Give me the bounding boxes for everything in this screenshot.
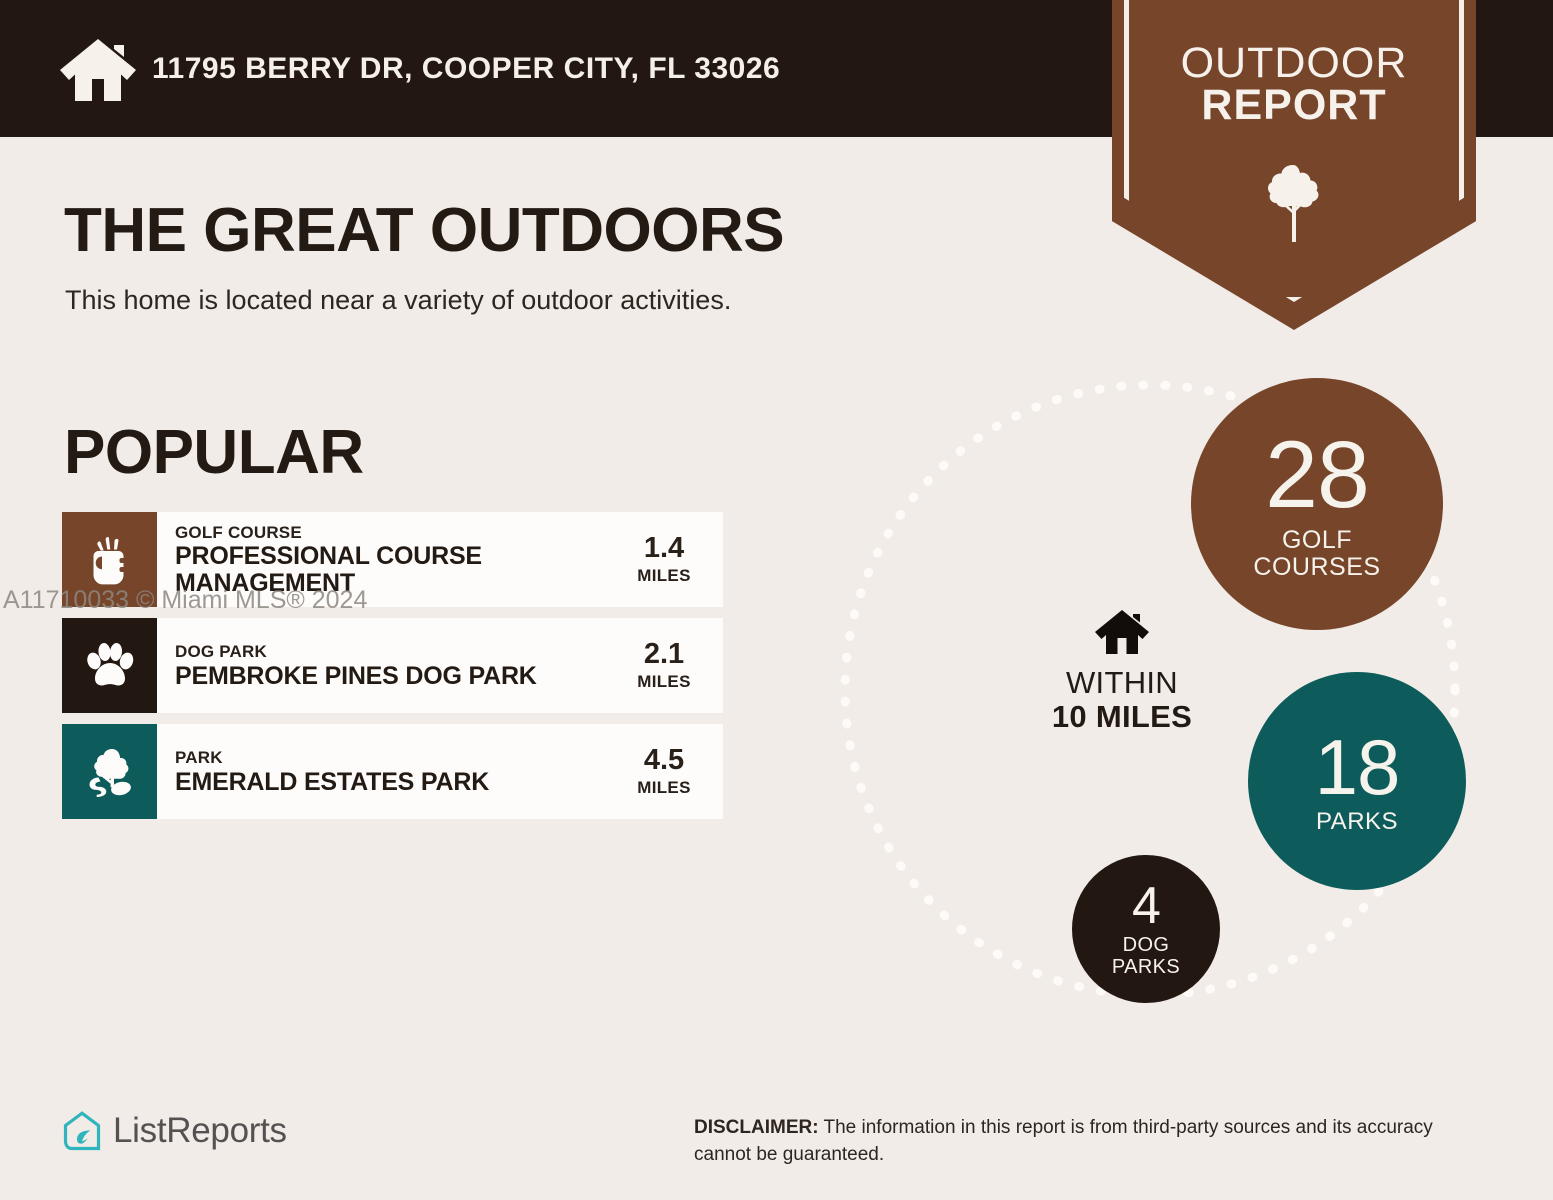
stat-value: 4 bbox=[1132, 880, 1160, 932]
list-item-distance: 2.1 MILES bbox=[615, 618, 723, 713]
stat-circle-golf-courses: 28 GOLF COURSES bbox=[1191, 378, 1443, 630]
stat-circle-parks: 18 PARKS bbox=[1248, 672, 1466, 890]
tree-path-icon bbox=[84, 747, 136, 797]
stat-label: PARKS bbox=[1316, 810, 1398, 834]
tree-icon bbox=[1266, 163, 1322, 243]
distance-value: 1.4 bbox=[644, 534, 684, 563]
listreports-logo-text: ListReports bbox=[113, 1111, 287, 1151]
paw-print-icon bbox=[84, 641, 136, 691]
list-item[interactable]: GOLF COURSE PROFESSIONAL COURSE MANAGEME… bbox=[62, 512, 723, 607]
list-item-distance: 1.4 MILES bbox=[615, 512, 723, 607]
list-item-name: PEMBROKE PINES DOG PARK bbox=[175, 662, 537, 691]
golf-bag-icon bbox=[86, 534, 134, 586]
list-item-category: GOLF COURSE bbox=[175, 522, 585, 543]
distance-value: 4.5 bbox=[644, 746, 684, 775]
popular-list: GOLF COURSE PROFESSIONAL COURSE MANAGEME… bbox=[62, 512, 723, 830]
center-label-line-2: 10 MILES bbox=[1022, 699, 1222, 734]
center-label-line-1: WITHIN bbox=[1022, 666, 1222, 699]
popular-heading: POPULAR bbox=[64, 417, 364, 488]
golf-bag-icon-tile bbox=[62, 512, 157, 607]
list-item-category: PARK bbox=[175, 747, 489, 768]
stat-label-line-2: COURSES bbox=[1253, 553, 1380, 581]
distance-value: 2.1 bbox=[644, 640, 684, 669]
list-item-text: PARK EMERALD ESTATES PARK bbox=[157, 724, 615, 819]
distance-unit: MILES bbox=[637, 672, 690, 692]
listreports-house-leaf-icon bbox=[62, 1110, 102, 1152]
list-item[interactable]: PARK EMERALD ESTATES PARK 4.5 MILES bbox=[62, 724, 723, 819]
list-item[interactable]: DOG PARK PEMBROKE PINES DOG PARK 2.1 MIL… bbox=[62, 618, 723, 713]
stat-label-line-2: PARKS bbox=[1112, 956, 1180, 978]
paw-print-icon-tile bbox=[62, 618, 157, 713]
stat-circle-dog-parks: 4 DOG PARKS bbox=[1072, 855, 1220, 1003]
badge-label: OUTDOOR REPORT bbox=[1112, 42, 1476, 126]
tree-path-icon-tile bbox=[62, 724, 157, 819]
home-icon bbox=[58, 36, 138, 104]
list-item-text: DOG PARK PEMBROKE PINES DOG PARK bbox=[157, 618, 615, 713]
section-subtitle: This home is located near a variety of o… bbox=[65, 285, 731, 316]
list-item-category: DOG PARK bbox=[175, 641, 537, 662]
home-icon bbox=[1094, 608, 1150, 656]
disclaimer: DISCLAIMER: The information in this repo… bbox=[694, 1115, 1494, 1169]
stat-value: 18 bbox=[1315, 728, 1400, 806]
list-item-text: GOLF COURSE PROFESSIONAL COURSE MANAGEME… bbox=[157, 512, 615, 607]
disclaimer-label: DISCLAIMER: bbox=[694, 1117, 819, 1138]
listreports-logo[interactable]: ListReports bbox=[62, 1110, 287, 1152]
diagram-center-label: WITHIN 10 MILES bbox=[1022, 608, 1222, 735]
stat-value: 28 bbox=[1265, 428, 1369, 523]
stat-label-line-1: DOG bbox=[1123, 934, 1170, 956]
list-item-name: PROFESSIONAL COURSE MANAGEMENT bbox=[175, 543, 585, 597]
stat-label: DOG PARKS bbox=[1112, 935, 1180, 978]
section-title: THE GREAT OUTDOORS bbox=[64, 195, 784, 266]
stat-label-line-1: GOLF bbox=[1282, 526, 1352, 554]
list-item-distance: 4.5 MILES bbox=[615, 724, 723, 819]
stat-label: GOLF COURSES bbox=[1253, 527, 1380, 580]
list-item-name: EMERALD ESTATES PARK bbox=[175, 768, 489, 797]
distance-unit: MILES bbox=[637, 778, 690, 798]
badge-line-2: REPORT bbox=[1112, 84, 1476, 126]
badge-line-1: OUTDOOR bbox=[1112, 42, 1476, 84]
distance-unit: MILES bbox=[637, 566, 690, 586]
page-title: 11795 BERRY DR, COOPER CITY, FL 33026 bbox=[152, 52, 780, 86]
